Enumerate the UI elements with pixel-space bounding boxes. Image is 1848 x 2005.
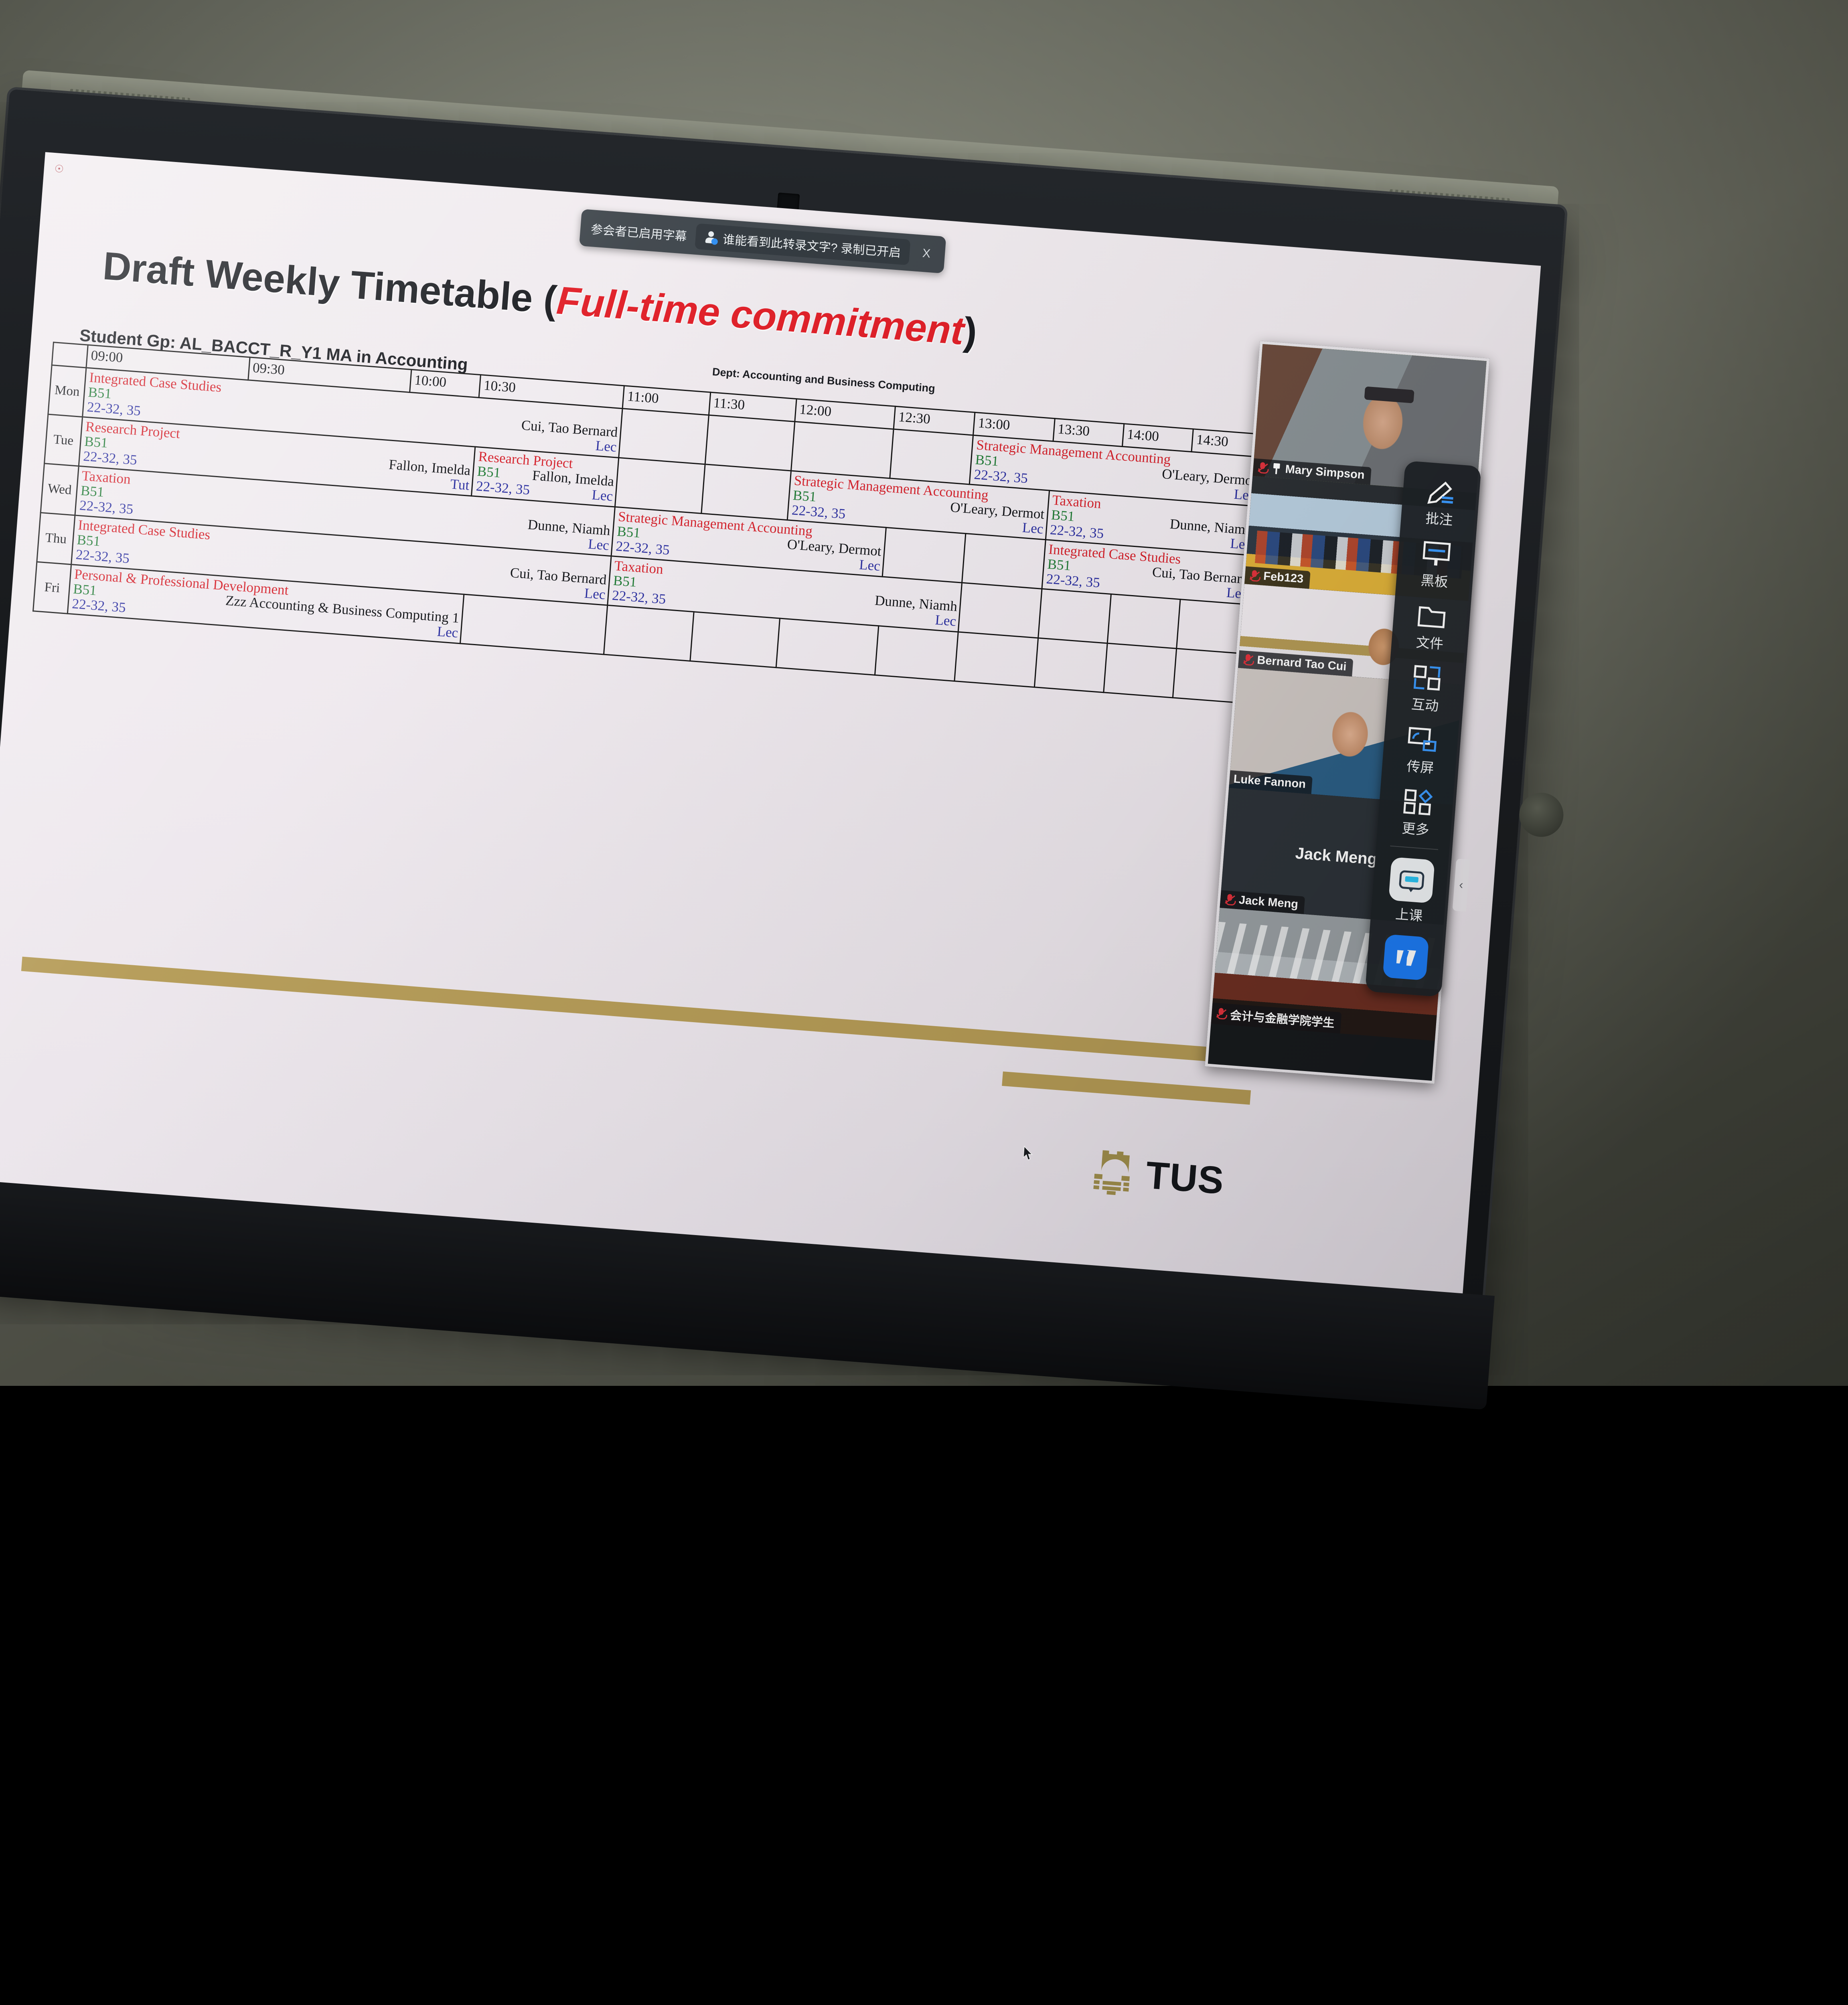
timetable-empty-cell[interactable] — [604, 605, 694, 661]
title-paren-close: ) — [962, 309, 979, 354]
toolbar-item-label: 更多 — [1401, 817, 1430, 839]
mic-muted-icon — [1257, 461, 1268, 474]
room-code: B51 — [792, 488, 817, 504]
whiteboard-icon — [1420, 539, 1452, 569]
week-range: 22-32, 35 — [1046, 571, 1101, 590]
session-type: Lec — [584, 586, 606, 602]
toolbar-item-more-grid[interactable]: 更多 — [1376, 779, 1457, 845]
week-range: 22-32, 35 — [75, 547, 130, 566]
toolbar-app-button[interactable] — [1366, 927, 1446, 986]
room-code: B51 — [84, 434, 108, 450]
timetable-empty-cell[interactable] — [954, 632, 1038, 687]
week-range: 22-32, 35 — [1050, 522, 1104, 541]
timetable-empty-cell[interactable] — [619, 409, 709, 464]
week-range: 22-32, 35 — [791, 502, 846, 521]
tus-logo: TUS — [1092, 1149, 1226, 1203]
day-label-fri: Fri — [33, 562, 71, 614]
pin-icon — [1271, 463, 1282, 475]
room-code: B51 — [76, 532, 101, 549]
timetable-empty-cell[interactable] — [705, 415, 795, 471]
timetable-empty-cell[interactable] — [882, 527, 966, 583]
session-type: Lec — [934, 612, 956, 629]
session-type: Lec — [859, 557, 881, 573]
class-button-label: 上课 — [1395, 903, 1424, 925]
timetable-empty-cell[interactable] — [1038, 589, 1111, 643]
week-range: 22-32, 35 — [476, 478, 531, 497]
toolbar-item-label: 传屏 — [1406, 755, 1435, 777]
seewo-app-icon — [1382, 934, 1429, 980]
toolbar-class-button[interactable]: 上课 — [1370, 850, 1452, 932]
mic-muted-icon — [1224, 893, 1235, 906]
room-code: B51 — [1047, 557, 1071, 573]
tus-logo-text: TUS — [1144, 1153, 1226, 1203]
room-code: B51 — [87, 385, 112, 401]
room-code: B51 — [613, 573, 637, 589]
screen-cast-icon — [1406, 725, 1438, 755]
mic-muted-icon — [1242, 653, 1253, 666]
gold-bar-primary — [21, 957, 1282, 1067]
title-main-text: Draft Weekly Timetable — [101, 243, 545, 321]
week-range: 22-32, 35 — [974, 467, 1029, 486]
toolbar-item-pencil[interactable]: 批注 — [1400, 470, 1481, 536]
toolbar-item-label: 黑板 — [1420, 569, 1449, 591]
toolbar-item-interact[interactable]: 互动 — [1386, 655, 1467, 721]
tus-castle-icon — [1092, 1149, 1137, 1197]
mouse-cursor-icon — [1022, 1145, 1034, 1161]
week-range: 22-32, 35 — [615, 539, 670, 557]
avatar-placeholder-name: Jack Meng — [1295, 844, 1378, 868]
day-label-thu: Thu — [37, 512, 75, 564]
room-code: B51 — [73, 581, 97, 598]
pencil-icon — [1425, 477, 1457, 507]
toolbar-item-label: 文件 — [1415, 631, 1444, 653]
week-range: 22-32, 35 — [71, 596, 126, 615]
week-range: 22-32, 35 — [83, 449, 138, 468]
day-label-wed: Wed — [41, 464, 79, 515]
department-label: Dept: Accounting and Business Computing — [712, 366, 936, 395]
participant-name: Luke Fannon — [1233, 773, 1306, 792]
session-type: Lec — [595, 438, 617, 455]
toolbar-divider — [1390, 846, 1438, 850]
timetable-empty-cell[interactable] — [875, 626, 958, 681]
week-range: 22-32, 35 — [87, 399, 142, 418]
timetable-empty-cell[interactable] — [776, 618, 879, 675]
timetable-empty-cell[interactable] — [690, 612, 780, 668]
session-type: Tut — [450, 476, 470, 493]
toolbar-item-label: 批注 — [1425, 507, 1454, 529]
timetable-empty-cell[interactable] — [958, 583, 1042, 638]
day-label-tue: Tue — [45, 414, 83, 466]
room-code: B51 — [477, 464, 501, 480]
toolbar-item-screen-cast[interactable]: 传屏 — [1381, 717, 1462, 784]
title-emphasis-text: Full-time commitment — [555, 278, 966, 353]
display-bezel: ☉ 参会者已启用字幕 谁能看到此转录文字? 录制已开启 X Draft Week… — [0, 89, 1565, 1379]
session-type: Lec — [591, 487, 613, 504]
session-type: Lec — [588, 537, 610, 553]
timetable-empty-cell[interactable] — [1034, 638, 1107, 693]
mic-muted-icon — [1248, 569, 1260, 582]
room-code: B51 — [616, 524, 641, 540]
session-type: Lec — [1022, 520, 1044, 537]
timetable-empty-cell[interactable] — [460, 594, 608, 654]
gold-bar-secondary — [1002, 1071, 1251, 1105]
screen: ☉ 参会者已启用字幕 谁能看到此转录文字? 录制已开启 X Draft Week… — [0, 152, 1541, 1297]
participant-name: Jack Meng — [1238, 893, 1299, 911]
interact-icon — [1411, 663, 1443, 693]
toolbar-item-folder[interactable]: 文件 — [1391, 593, 1471, 660]
timetable-empty-cell[interactable] — [1107, 594, 1180, 648]
timetable-empty-cell[interactable] — [791, 421, 894, 478]
chevron-left-icon: ‹ — [1459, 878, 1464, 892]
classroom-icon — [1388, 857, 1435, 903]
timetable-empty-cell[interactable] — [615, 458, 705, 513]
timetable-corner-cell — [52, 342, 88, 368]
timetable-empty-cell[interactable] — [701, 464, 791, 520]
timetable-empty-cell[interactable] — [962, 534, 1046, 589]
week-range: 22-32, 35 — [612, 588, 667, 607]
day-label-mon: Mon — [48, 365, 86, 417]
timetable-empty-cell[interactable] — [1104, 643, 1177, 698]
toolbar-item-label: 互动 — [1411, 693, 1440, 715]
toolbar-item-whiteboard[interactable]: 黑板 — [1395, 531, 1476, 597]
mic-muted-icon — [1215, 1007, 1226, 1020]
participant-name: Feb123 — [1263, 570, 1304, 586]
timetable-empty-cell[interactable] — [890, 429, 973, 484]
folder-icon — [1416, 601, 1448, 631]
more-grid-icon — [1402, 787, 1433, 817]
room-code: B51 — [80, 483, 105, 500]
room-code: B51 — [975, 452, 999, 468]
interactive-display: ☉ 参会者已启用字幕 谁能看到此转录文字? 录制已开启 X Draft Week… — [0, 60, 1599, 1389]
session-type: Lec — [437, 624, 459, 640]
room-code: B51 — [1051, 507, 1075, 524]
week-range: 22-32, 35 — [79, 498, 134, 516]
